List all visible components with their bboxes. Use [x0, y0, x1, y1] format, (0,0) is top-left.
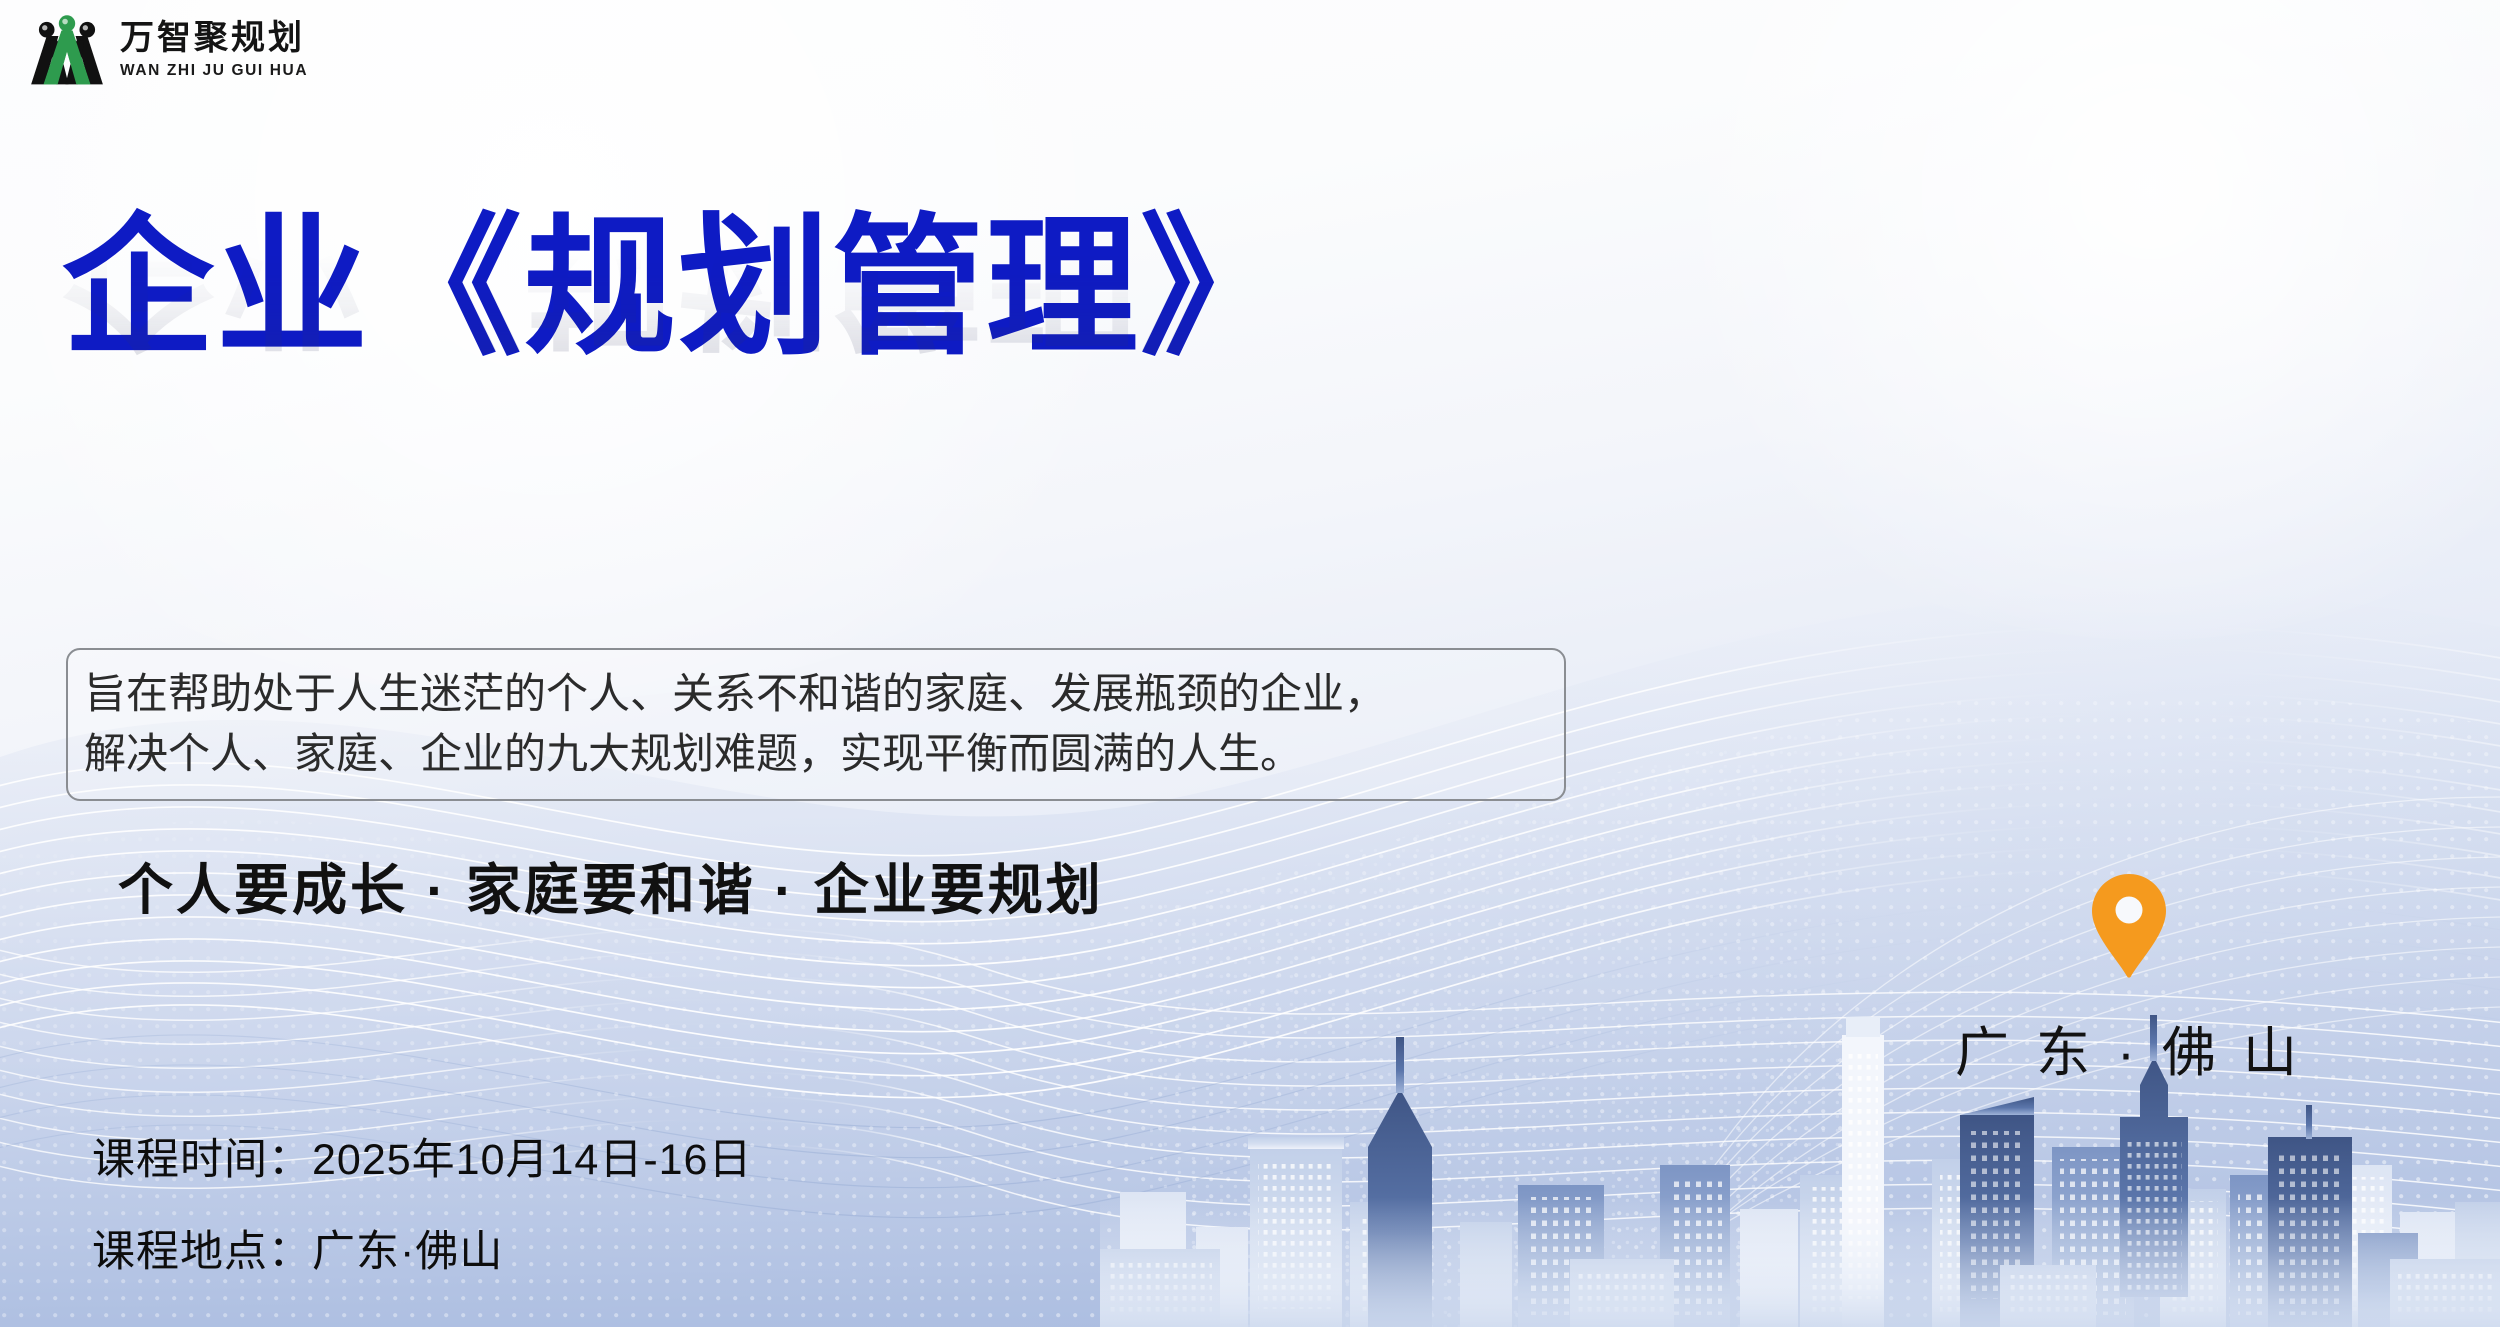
description-box: 旨在帮助处于人生迷茫的个人、关系不和谐的家庭、发展瓶颈的企业， 解决个人、家庭、…	[66, 648, 1566, 801]
course-info: 课程时间：2025年10月14日-16日 课程地点：广东·佛山	[92, 1125, 752, 1279]
top-right-glow	[1600, 0, 2500, 640]
hero-title-block: 企业《规划管理》 企业《规划管理》	[62, 196, 1294, 553]
brand-text: 万智聚规划 WAN ZHI JU GUI HUA	[120, 22, 308, 79]
location-block: 广 东 · 佛 山	[1955, 872, 2303, 1087]
slogan-text: 个人要成长 · 家庭要和谐 · 企业要规划	[118, 845, 1104, 925]
promo-banner: 万智聚规划 WAN ZHI JU GUI HUA 企业《规划管理》 企业《规划管…	[0, 0, 2500, 1327]
course-place: 课程地点：广东·佛山	[92, 1217, 752, 1279]
location-label: 广 东 · 佛 山	[1955, 1008, 2303, 1087]
map-pin-icon	[2088, 872, 2170, 980]
brand-name-en: WAN ZHI JU GUI HUA	[120, 63, 308, 79]
description-line-2: 解决个人、家庭、企业的九大规划难题，实现平衡而圆满的人生。	[84, 724, 1548, 784]
page-title-reflection: 企业《规划管理》	[62, 182, 1294, 367]
description-line-1: 旨在帮助处于人生迷茫的个人、关系不和谐的家庭、发展瓶颈的企业，	[84, 664, 1548, 724]
course-date: 课程时间：2025年10月14日-16日	[92, 1125, 752, 1187]
brand-name-cn: 万智聚规划	[120, 22, 308, 56]
three-people-logo-icon	[28, 14, 106, 86]
brand-logo: 万智聚规划 WAN ZHI JU GUI HUA	[28, 14, 308, 86]
